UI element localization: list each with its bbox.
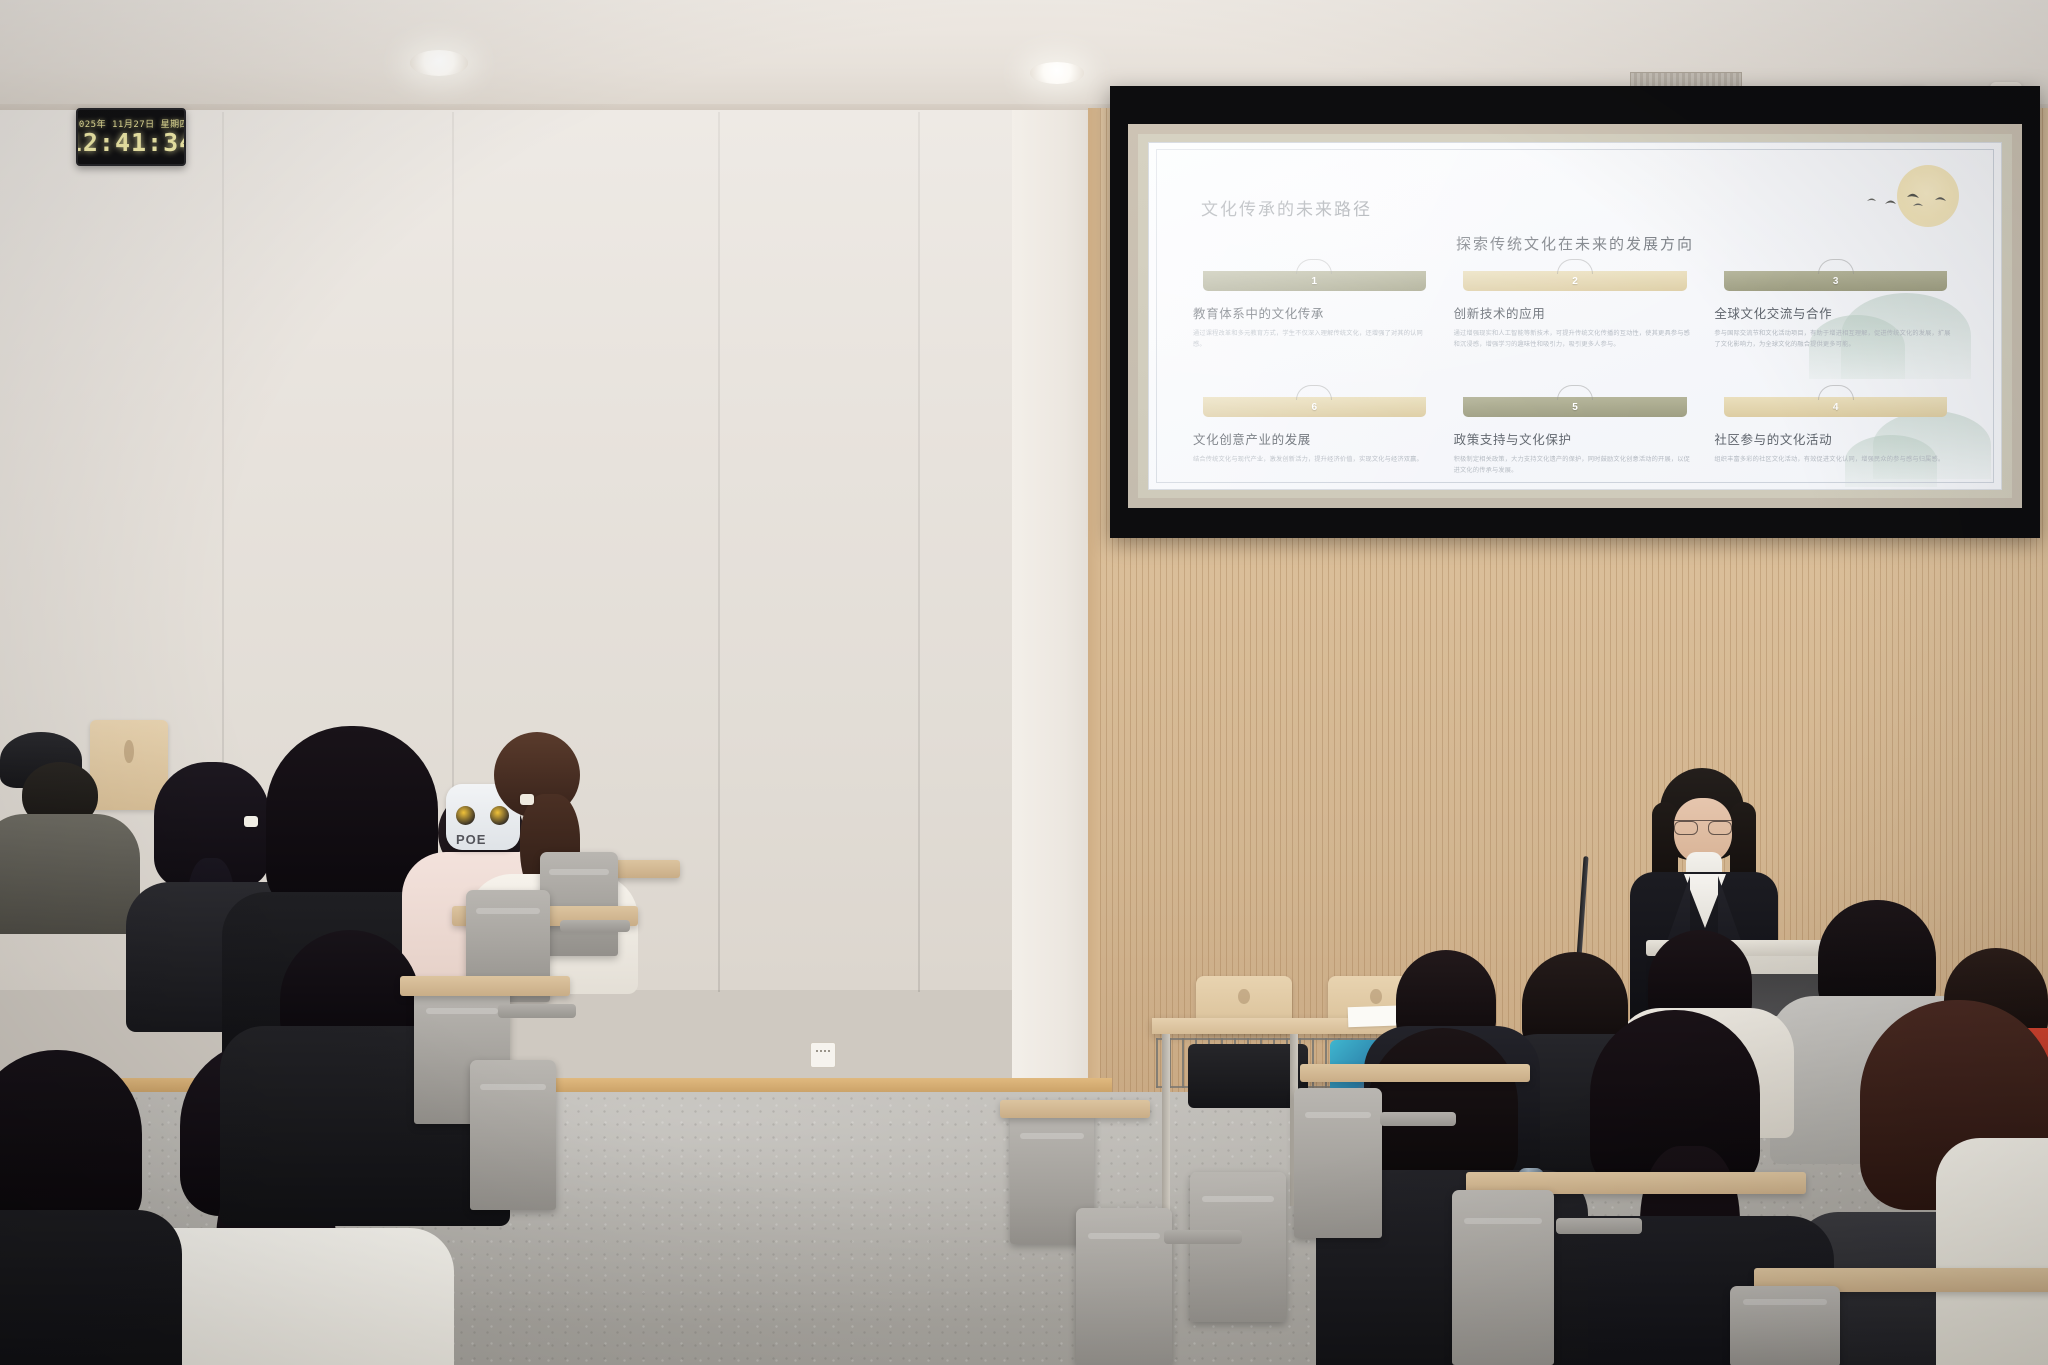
seatback-right-5[interactable]	[1076, 1208, 1172, 1365]
card-number: 4	[1833, 402, 1839, 413]
slide-card: 1 教育体系中的文化传承 通过课程改革和多元教育方式，学生不仅深入理解传统文化，…	[1193, 271, 1436, 389]
seat-arm-right-1	[1380, 1112, 1456, 1126]
card-number: 3	[1833, 276, 1839, 287]
slide-card: 5 政策支持与文化保护 积极制定相关政策，大力支持文化遗产的保护，同时鼓励文化创…	[1454, 397, 1697, 490]
card-title: 全球文化交流与合作	[1714, 303, 1957, 322]
screen-mat-outer: 文化传承的未来路径 探索传统文化在未来的发展方向 1 教育体系中的文化传承 通过…	[1128, 124, 2022, 508]
card-tab: 3	[1724, 271, 1947, 291]
student-far-right-white	[1936, 1108, 2048, 1365]
card-number: 2	[1572, 276, 1578, 287]
digital-wall-clock: 2025年 11月27日 星期四 12:41:34	[76, 108, 186, 166]
presentation-slide: 文化传承的未来路径 探索传统文化在未来的发展方向 1 教育体系中的文化传承 通过…	[1148, 142, 2002, 490]
card-body: 通过增强现实和人工智能等新技术，可提升传统文化传播的互动性，使其更具参与感和沉浸…	[1454, 328, 1697, 351]
card-title: 政策支持与文化保护	[1454, 429, 1697, 448]
slide-card: 2 创新技术的应用 通过增强现实和人工智能等新技术，可提升传统文化传播的互动性，…	[1454, 271, 1697, 389]
torso	[0, 1210, 182, 1365]
slide-card-grid: 1 教育体系中的文化传承 通过课程改革和多元教育方式，学生不仅深入理解传统文化，…	[1193, 271, 1957, 490]
slide-subtitle: 探索传统文化在未来的发展方向	[1149, 233, 2001, 254]
card-body: 通过课程改革和多元教育方式，学生不仅深入理解传统文化，还增强了对其的认同感。	[1193, 328, 1436, 351]
card-tab: 2	[1463, 271, 1686, 291]
card-title: 教育体系中的文化传承	[1193, 303, 1436, 322]
card-title: 创新技术的应用	[1454, 303, 1697, 322]
student-far-left-front	[0, 1050, 160, 1365]
card-tab: 1	[1203, 271, 1426, 291]
downlight-1	[410, 50, 468, 76]
card-body: 组织丰富多彩的社区文化活动，有效促进文化认同，增强民众的参与感与归属感。	[1714, 454, 1957, 465]
seatback-right-2[interactable]	[1452, 1190, 1554, 1365]
seat-arm-right-2	[1556, 1218, 1642, 1234]
screen-mat-inner: 文化传承的未来路径 探索传统文化在未来的发展方向 1 教育体系中的文化传承 通过…	[1138, 134, 2012, 498]
card-tab: 5	[1463, 397, 1686, 417]
torso	[0, 814, 140, 934]
seatback-right-1[interactable]	[1294, 1088, 1382, 1238]
bench-right-1	[1300, 1064, 1530, 1082]
projector-screen: 文化传承的未来路径 探索传统文化在未来的发展方向 1 教育体系中的文化传承 通过…	[1110, 86, 2040, 538]
wall-seam-3	[718, 112, 720, 992]
slide-title: 文化传承的未来路径	[1201, 195, 1372, 220]
card-tab: 6	[1203, 397, 1426, 417]
card-title: 文化创意产业的发展	[1193, 429, 1436, 448]
wall-power-outlet[interactable]	[810, 1042, 836, 1068]
seat-arm-left-1	[560, 920, 630, 932]
seat-arm-left-2	[498, 1004, 576, 1018]
glasses-icon	[1674, 820, 1732, 832]
seatback-left-1[interactable]	[540, 852, 618, 956]
bench-right-4	[1000, 1100, 1150, 1118]
slide-card: 4 社区参与的文化活动 组织丰富多彩的社区文化活动，有效促进文化认同，增强民众的…	[1714, 397, 1957, 490]
bench-left-3	[400, 976, 570, 996]
downlight-2	[1030, 62, 1084, 84]
slide-card: 6 文化创意产业的发展 结合传统文化与现代产业，激发创新活力，提升经济价值，实现…	[1193, 397, 1436, 490]
birds-icon	[1863, 187, 1967, 213]
head	[0, 1050, 142, 1230]
card-title: 社区参与的文化活动	[1714, 429, 1957, 448]
panda-eye-left	[456, 806, 475, 825]
lecture-hall-scene: 2025年 11月27日 星期四 12:41:34	[0, 0, 2048, 1365]
card-body: 结合传统文化与现代产业，激发创新活力，提升经济价值，实现文化与经济双赢。	[1193, 454, 1436, 465]
wall-seam-4	[918, 112, 920, 992]
seatback-left-4[interactable]	[470, 1060, 556, 1210]
seatback-right-3[interactable]	[1730, 1286, 1840, 1365]
torso	[1936, 1138, 2048, 1365]
card-number: 6	[1312, 402, 1318, 413]
seatback-right-6[interactable]	[1190, 1172, 1286, 1322]
card-number: 1	[1312, 276, 1318, 287]
card-body: 积极制定相关政策，大力支持文化遗产的保护，同时鼓励文化创意活动的开展，以促进文化…	[1454, 454, 1697, 477]
card-tab: 4	[1724, 397, 1947, 417]
card-number: 5	[1572, 402, 1578, 413]
head	[1368, 1028, 1518, 1186]
card-body: 参与国际交流节和文化活动项目，有助于增进相互理解，促进传统文化的发展，扩展了文化…	[1714, 328, 1957, 351]
hair-clip	[520, 794, 534, 805]
seat-arm-right-3	[1164, 1230, 1242, 1244]
clock-time: 12:41:34	[76, 130, 186, 156]
slide-card: 3 全球文化交流与合作 参与国际交流节和文化活动项目，有助于增进相互理解，促进传…	[1714, 271, 1957, 389]
student-with-cap	[0, 732, 130, 892]
